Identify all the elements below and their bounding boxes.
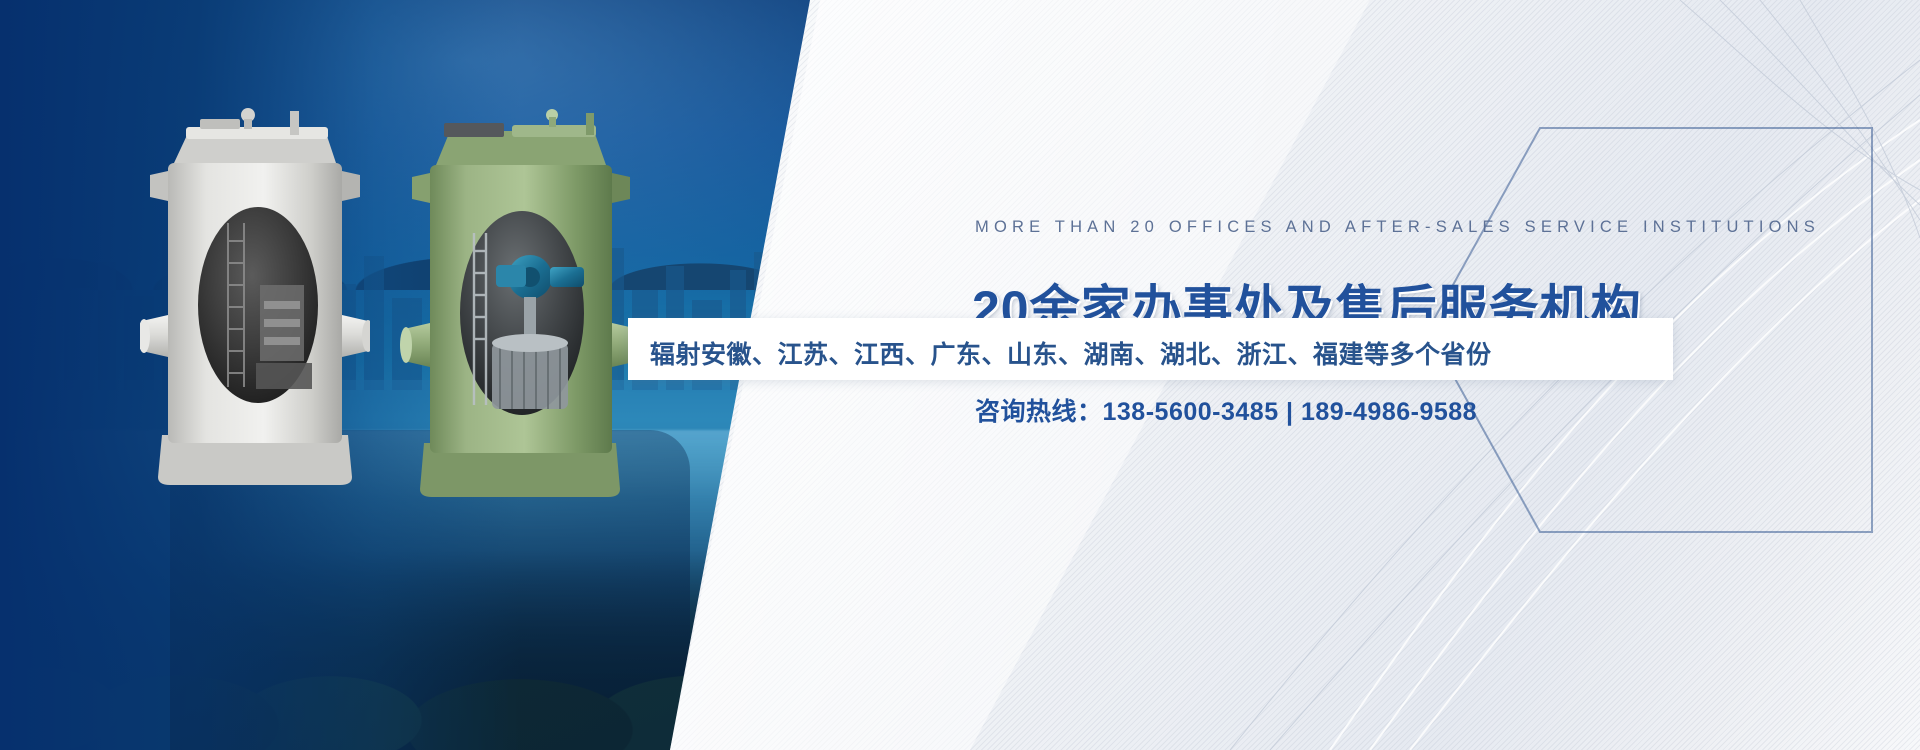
product-image-green-pump-station xyxy=(400,105,640,505)
eyebrow-english-subtitle: MORE THAN 20 OFFICES AND AFTER-SALES SER… xyxy=(975,218,1820,237)
promo-banner: MORE THAN 20 OFFICES AND AFTER-SALES SER… xyxy=(0,0,1920,750)
product-image-grey-pump-station xyxy=(140,105,370,495)
hotline-text[interactable]: 咨询热线：138-5600-3485 | 189-4986-9588 xyxy=(975,392,1477,428)
coverage-provinces-text: 辐射安徽、江苏、江西、广东、山东、湖南、湖北、浙江、福建等多个省份 xyxy=(650,335,1492,371)
